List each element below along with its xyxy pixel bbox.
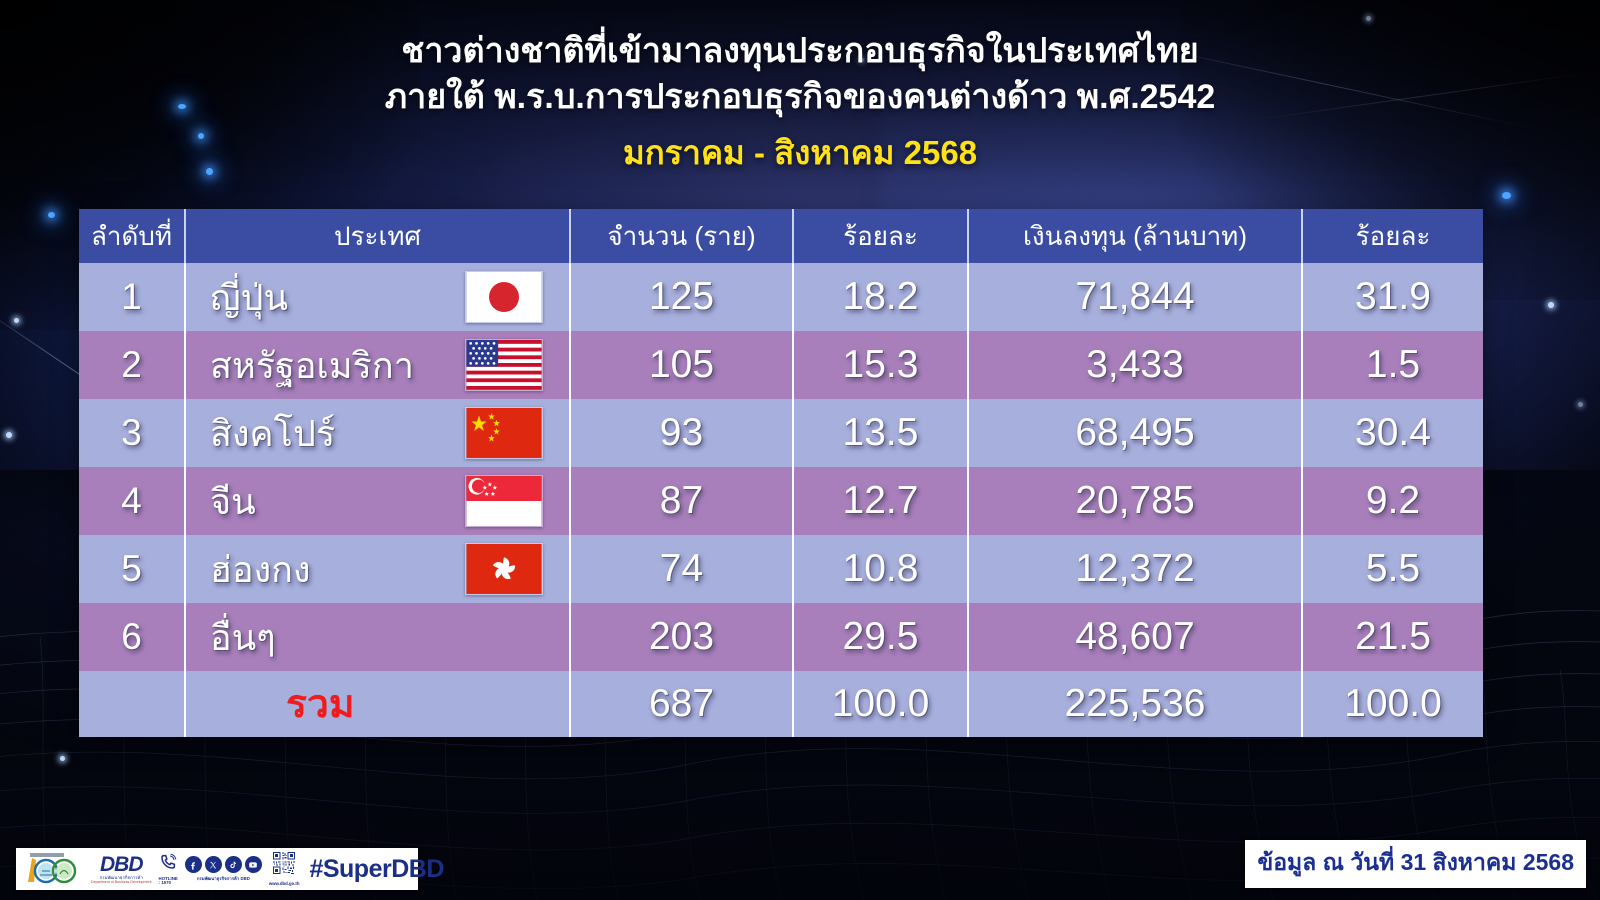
cell-total-investment: 225,536 <box>968 671 1302 737</box>
cell-investment: 20,785 <box>968 467 1302 535</box>
table-row: 5 ฮ่องกง <box>79 535 1483 603</box>
table-total-row: รวม 687 100.0 225,536 100.0 <box>79 671 1483 737</box>
country-label: จีน <box>210 473 266 530</box>
glow-dot <box>6 432 12 438</box>
glow-dot <box>48 212 55 218</box>
hashtag-superdbd: #SuperDBD <box>309 855 443 884</box>
cell-count: 203 <box>570 603 793 671</box>
title-period: มกราคม - สิงหาคม 2568 <box>0 132 1600 174</box>
dbd-logo-subtitle-en: Department of Business Development <box>91 881 152 885</box>
glow-dot <box>1366 16 1371 21</box>
table-header-row: ลำดับที่ ประเทศ จำนวน (ราย) ร้อยละ เงินล… <box>79 209 1483 263</box>
cell-country: ฮ่องกง <box>185 535 570 603</box>
table-body: 1 ญี่ปุ่น 125 18.2 71,844 31.9 <box>79 263 1483 737</box>
social-icon-row <box>185 856 262 873</box>
country-label: สิงคโปร์ <box>210 405 345 462</box>
cell-pct-investment: 5.5 <box>1302 535 1483 603</box>
anniversary-105-logo-icon <box>24 852 84 886</box>
cell-pct-count: 10.8 <box>793 535 968 603</box>
cell-pct-count: 15.3 <box>793 331 968 399</box>
social-caption: กรมพัฒนาธุรกิจการค้า DBD <box>197 875 250 882</box>
cell-count: 93 <box>570 399 793 467</box>
cell-rank: 2 <box>79 331 185 399</box>
usa-flag <box>465 339 543 391</box>
qr-code-icon[interactable] <box>273 852 295 879</box>
cell-investment: 48,607 <box>968 603 1302 671</box>
x-twitter-icon[interactable] <box>205 856 222 873</box>
cell-pct-investment: 9.2 <box>1302 467 1483 535</box>
data-table-container: ลำดับที่ ประเทศ จำนวน (ราย) ร้อยละ เงินล… <box>79 209 1483 737</box>
column-header-pct-count: ร้อยละ <box>793 209 968 263</box>
cell-pct-count: 13.5 <box>793 399 968 467</box>
hotline-label: HOTLINE : 1570 <box>159 877 178 886</box>
hongkong-flag <box>465 543 543 595</box>
footer-branding-bar: DBD กรมพัฒนาธุรกิจการค้า Department of B… <box>16 848 418 890</box>
cell-investment: 3,433 <box>968 331 1302 399</box>
cell-count: 74 <box>570 535 793 603</box>
country-label: ฮ่องกง <box>210 541 321 598</box>
glow-dot <box>14 318 19 323</box>
cell-country: สหรัฐอเมริกา <box>185 331 570 399</box>
cell-rank: 4 <box>79 467 185 535</box>
cell-count: 105 <box>570 331 793 399</box>
cell-pct-count: 12.7 <box>793 467 968 535</box>
cell-rank: 1 <box>79 263 185 331</box>
cell-country: อื่นๆ <box>185 603 570 671</box>
china-flag <box>465 407 543 459</box>
qr-code-block[interactable]: www.dbd.go.th <box>269 852 300 886</box>
cell-pct-investment: 31.9 <box>1302 263 1483 331</box>
cell-country: ญี่ปุ่น <box>185 263 570 331</box>
table-row: 1 ญี่ปุ่น 125 18.2 71,844 31.9 <box>79 263 1483 331</box>
country-label: สหรัฐอเมริกา <box>210 337 424 394</box>
column-header-pct-investment: ร้อยละ <box>1302 209 1483 263</box>
data-table: ลำดับที่ ประเทศ จำนวน (ราย) ร้อยละ เงินล… <box>79 209 1483 737</box>
cell-pct-investment: 21.5 <box>1302 603 1483 671</box>
table-row: 6 อื่นๆ 203 29.5 48,607 21.5 <box>79 603 1483 671</box>
title-line-1: ชาวต่างชาติที่เข้ามาลงทุนประกอบธุรกิจในป… <box>0 28 1600 74</box>
country-label: อื่นๆ <box>210 609 286 666</box>
cell-total-count: 687 <box>570 671 793 737</box>
title-line-2: ภายใต้ พ.ร.บ.การประกอบธุรกิจของคนต่างด้า… <box>0 74 1600 120</box>
glow-dot <box>1548 302 1554 308</box>
title-block: ชาวต่างชาติที่เข้ามาลงทุนประกอบธุรกิจในป… <box>0 28 1600 174</box>
country-label: ญี่ปุ่น <box>210 269 298 326</box>
cell-rank: 5 <box>79 535 185 603</box>
cell-investment: 68,495 <box>968 399 1302 467</box>
column-header-investment: เงินลงทุน (ล้านบาท) <box>968 209 1302 263</box>
qr-caption: www.dbd.go.th <box>269 881 300 886</box>
glow-dot <box>1578 402 1583 407</box>
cell-count: 125 <box>570 263 793 331</box>
tiktok-icon[interactable] <box>225 856 242 873</box>
cell-count: 87 <box>570 467 793 535</box>
cell-total-pct-count: 100.0 <box>793 671 968 737</box>
cell-country: จีน <box>185 467 570 535</box>
cell-rank: 6 <box>79 603 185 671</box>
social-links-block: กรมพัฒนาธุรกิจการค้า DBD <box>185 856 262 882</box>
youtube-icon[interactable] <box>245 856 262 873</box>
cell-pct-investment: 30.4 <box>1302 399 1483 467</box>
hotline-block: HOTLINE : 1570 <box>159 853 178 886</box>
table-row: 4 จีน <box>79 467 1483 535</box>
table-row: 3 สิงคโปร์ <box>79 399 1483 467</box>
singapore-flag <box>465 475 543 527</box>
japan-flag <box>465 271 543 323</box>
cell-investment: 71,844 <box>968 263 1302 331</box>
slide-canvas: ชาวต่างชาติที่เข้ามาลงทุนประกอบธุรกิจในป… <box>0 0 1600 900</box>
cell-total-rank <box>79 671 185 737</box>
column-header-count: จำนวน (ราย) <box>570 209 793 263</box>
table-row: 2 สหรัฐอเมริกา <box>79 331 1483 399</box>
facebook-icon[interactable] <box>185 856 202 873</box>
glow-dot <box>60 756 65 761</box>
cell-investment: 12,372 <box>968 535 1302 603</box>
total-label: รวม <box>185 671 570 737</box>
glow-dot <box>1502 192 1511 199</box>
cell-country: สิงคโปร์ <box>185 399 570 467</box>
cell-rank: 3 <box>79 399 185 467</box>
table-header: ลำดับที่ ประเทศ จำนวน (ราย) ร้อยละ เงินล… <box>79 209 1483 263</box>
column-header-country: ประเทศ <box>185 209 570 263</box>
column-header-rank: ลำดับที่ <box>79 209 185 263</box>
cell-total-pct-investment: 100.0 <box>1302 671 1483 737</box>
dbd-logo-text: DBD <box>100 854 143 875</box>
cell-pct-count: 29.5 <box>793 603 968 671</box>
as-of-date-label: ข้อมูล ณ วันที่ 31 สิงหาคม 2568 <box>1245 840 1586 888</box>
phone-icon <box>159 853 177 875</box>
cell-pct-count: 18.2 <box>793 263 968 331</box>
dbd-logo: DBD กรมพัฒนาธุรกิจการค้า Department of B… <box>91 854 152 885</box>
cell-pct-investment: 1.5 <box>1302 331 1483 399</box>
